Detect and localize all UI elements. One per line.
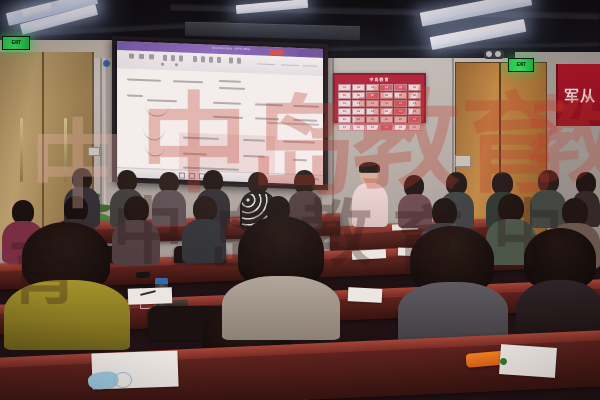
bulletin-board-cell: C3 xyxy=(366,100,379,107)
doc-graph-curve-2 xyxy=(143,127,165,141)
doc-text-line xyxy=(255,117,279,119)
phone-on-desk[interactable] xyxy=(136,272,150,279)
person-front-1 xyxy=(4,222,130,346)
person-head xyxy=(124,196,149,223)
person-head xyxy=(562,198,588,226)
person-head xyxy=(432,198,457,226)
bulletin-board-cell: A5 xyxy=(394,84,407,91)
bulletin-board-cell: F2 xyxy=(352,124,365,131)
doc-graph-curve-3 xyxy=(145,145,165,157)
emergency-lamp-bulb-left xyxy=(486,51,492,57)
face-mask-strap xyxy=(114,372,132,388)
person-top xyxy=(222,276,340,340)
exit-sign-right-label: EXIT xyxy=(516,62,525,68)
doc-text-line xyxy=(147,99,177,102)
bulletin-board-cell: C1 xyxy=(338,100,351,107)
wall-outlet-left[interactable] xyxy=(88,147,100,156)
person-front-5 xyxy=(516,228,600,346)
bulletin-board-cell: D6 xyxy=(408,108,421,115)
bulletin-board-cell: E1 xyxy=(338,116,351,123)
door-handle-left-a[interactable] xyxy=(20,118,23,182)
bulletin-board-cell: A2 xyxy=(352,84,365,91)
ribbon-icon-5[interactable] xyxy=(171,55,175,61)
doc-squiggle xyxy=(267,122,319,126)
person-hair xyxy=(524,228,596,288)
bulletin-board-cell: C5 xyxy=(394,100,407,107)
bulletin-board-cell: B3 xyxy=(366,92,379,99)
doc-text-line xyxy=(219,80,241,82)
doc-text-line xyxy=(213,116,243,119)
instructor-body xyxy=(352,183,388,227)
app-action-button[interactable] xyxy=(269,48,283,55)
doc-graph-curve-1 xyxy=(145,105,169,117)
bulletin-board-cell: F6 xyxy=(408,124,421,131)
instructor-glasses xyxy=(361,172,378,177)
bulletin-board-cell: D4 xyxy=(380,108,393,115)
person-head xyxy=(498,194,524,222)
bulletin-board-cell: D3 xyxy=(366,108,379,115)
bulletin-board-cell: B5 xyxy=(394,92,407,99)
bulletin-board-cell: A6 xyxy=(408,84,421,91)
person-front-3 xyxy=(222,216,340,338)
doc-text-line xyxy=(173,80,203,83)
bulletin-board-cell: F4 xyxy=(380,124,393,131)
wall-banner-text: 军从 xyxy=(564,85,596,106)
wall-pipe xyxy=(104,58,108,208)
exit-sign-right: EXIT xyxy=(508,58,534,72)
app-account-button[interactable] xyxy=(298,50,314,57)
bulletin-board-cell: B1 xyxy=(338,92,351,99)
bulletin-board-cell: D1 xyxy=(338,108,351,115)
ribbon-icon-8[interactable] xyxy=(201,56,205,62)
bulletin-board-cell: A1 xyxy=(338,84,351,91)
paper-sheet xyxy=(128,287,173,305)
document-canvas xyxy=(117,68,323,176)
paper-sheet xyxy=(348,287,383,303)
ribbon-icon-9[interactable] xyxy=(209,57,213,63)
ribbon-icon-7[interactable] xyxy=(193,56,197,62)
ribbon-icon-11[interactable] xyxy=(229,57,233,63)
person-front-4 xyxy=(398,226,508,344)
emergency-lamp xyxy=(484,50,504,59)
bulletin-board: 中岛教育 A1A2A3A4A5A6B1B2B3B4B5B6C1C2C3C4C5C… xyxy=(333,73,426,123)
bulletin-board-cell: B2 xyxy=(352,92,365,99)
bulletin-board-cell: F5 xyxy=(394,124,407,131)
exit-sign-left: EXIT xyxy=(2,36,30,50)
ribbon-icon-14[interactable] xyxy=(175,63,178,66)
person-body xyxy=(182,219,226,263)
wall-banner: 军从 xyxy=(556,64,600,126)
paper-sheet xyxy=(352,249,386,260)
doc-text-line xyxy=(255,103,283,106)
bulletin-board-cell: D5 xyxy=(394,108,407,115)
ceiling-beam-2 xyxy=(170,3,600,19)
view-mode-icon-2[interactable] xyxy=(189,173,195,179)
ribbon-divider-1 xyxy=(257,63,275,65)
bulletin-board-cell: F1 xyxy=(338,124,351,131)
bulletin-board-cell: E3 xyxy=(366,116,379,123)
exit-sign-left-label: EXIT xyxy=(11,40,20,46)
doc-text-line xyxy=(219,87,245,89)
bulletin-board-cell: C4 xyxy=(380,100,393,107)
doc-text-line xyxy=(293,119,317,121)
projection-screen: document.docx - WPS Office xyxy=(112,36,328,190)
ribbon-icon-3[interactable] xyxy=(149,54,154,59)
bulletin-board-cell: B4 xyxy=(380,92,393,99)
water-bottle-cap xyxy=(155,278,168,284)
bulletin-board-cell: E4 xyxy=(380,116,393,123)
doc-text-line xyxy=(213,102,241,105)
bulletin-board-cell: D2 xyxy=(352,108,365,115)
bulletin-board-cell: E2 xyxy=(352,116,365,123)
bulletin-board-cell: A3 xyxy=(366,84,379,91)
projection-screen-surface: document.docx - WPS Office xyxy=(117,41,323,185)
ribbon-icon-2[interactable] xyxy=(139,54,144,59)
doc-text-line xyxy=(293,105,319,107)
bulletin-board-cell: F3 xyxy=(366,124,379,131)
bulletin-board-cell: A4 xyxy=(380,84,393,91)
ribbon-icon-4[interactable] xyxy=(163,55,167,61)
ceiling-duct xyxy=(185,22,360,41)
app-title-text: document.docx - WPS Office xyxy=(212,46,250,51)
instructor xyxy=(352,163,388,225)
ribbon-icon-13[interactable] xyxy=(161,63,164,66)
ribbon-icon-1[interactable] xyxy=(129,54,134,59)
person-mid-4 xyxy=(182,196,226,262)
doc-text-line xyxy=(283,140,315,143)
wall-switch-panel[interactable] xyxy=(455,155,471,167)
bulletin-board-cell: C6 xyxy=(408,100,421,107)
emergency-lamp-bulb-right xyxy=(495,51,501,57)
doc-text-line xyxy=(293,159,307,161)
doc-text-line xyxy=(127,78,161,81)
pencil-case-cap xyxy=(500,358,507,365)
bulletin-board-cell: E5 xyxy=(394,116,407,123)
ribbon-icon-10[interactable] xyxy=(217,57,221,63)
classroom-photo: EXIT EXIT document.docx - WPS Office xyxy=(0,0,600,400)
ribbon-divider-2 xyxy=(281,64,299,66)
paper-sheet xyxy=(499,344,557,378)
ribbon-icon-6[interactable] xyxy=(179,55,183,61)
doc-text-line xyxy=(127,94,143,96)
ribbon-icon-12[interactable] xyxy=(237,58,241,64)
bulletin-board-cell: B6 xyxy=(408,92,421,99)
smoke-detector xyxy=(103,60,110,67)
person-sweater xyxy=(4,280,130,350)
bulletin-board-cell: C2 xyxy=(352,100,365,107)
bulletin-board-cell: E6 xyxy=(408,116,421,123)
bulletin-board-grid: A1A2A3A4A5A6B1B2B3B4B5B6C1C2C3C4C5C6D1D2… xyxy=(337,83,422,132)
ribbon-divider-3 xyxy=(303,65,317,67)
